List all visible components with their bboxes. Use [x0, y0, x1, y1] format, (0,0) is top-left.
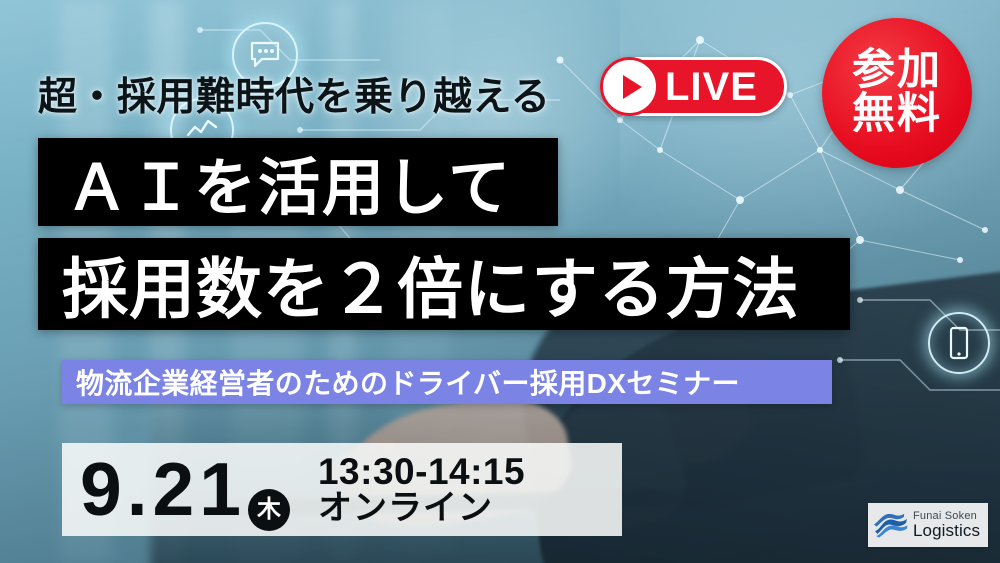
free-participation-badge: 参加 無料 [822, 18, 972, 168]
seminar-banner: 超・採用難時代を乗り越える LIVE 参加 無料 ＡＩを活用して 採用数を２倍に… [0, 0, 1000, 563]
event-date-wrapper: 9.21 木 [80, 452, 246, 527]
funai-soken-wave-mark [874, 512, 908, 538]
headline-line-1: ＡＩを活用して [66, 137, 512, 227]
subtitle-text: 物流企業経営者のためのドライバー採用DXセミナー [76, 362, 740, 402]
schedule-panel: 9.21 木 13:30-14:15 オンライン [62, 443, 622, 536]
smartphone-icon [928, 312, 990, 374]
tagline: 超・採用難時代を乗り越える [38, 66, 550, 122]
subtitle-bar: 物流企業経営者のためのドライバー採用DXセミナー [62, 360, 832, 404]
play-icon [600, 57, 659, 116]
free-badge-line1: 参加 [852, 49, 942, 93]
live-badge: LIVE [600, 57, 787, 116]
event-time: 13:30-14:15 [318, 453, 525, 491]
headline-line-2: 採用数を２倍にする方法 [62, 236, 800, 332]
company-logo: Funai Soken Logistics [868, 503, 988, 547]
day-of-week-badge: 木 [248, 489, 290, 531]
headline-bar-1: ＡＩを活用して [38, 138, 558, 226]
event-date: 9.21 [80, 447, 246, 531]
event-format: オンライン [318, 491, 525, 526]
logo-division: Logistics [913, 522, 980, 539]
free-badge-line2: 無料 [852, 93, 942, 137]
live-label: LIVE [665, 67, 758, 107]
headline-bar-2: 採用数を２倍にする方法 [38, 238, 850, 330]
logo-text: Funai Soken Logistics [913, 511, 980, 540]
schedule-details: 13:30-14:15 オンライン [318, 453, 525, 527]
